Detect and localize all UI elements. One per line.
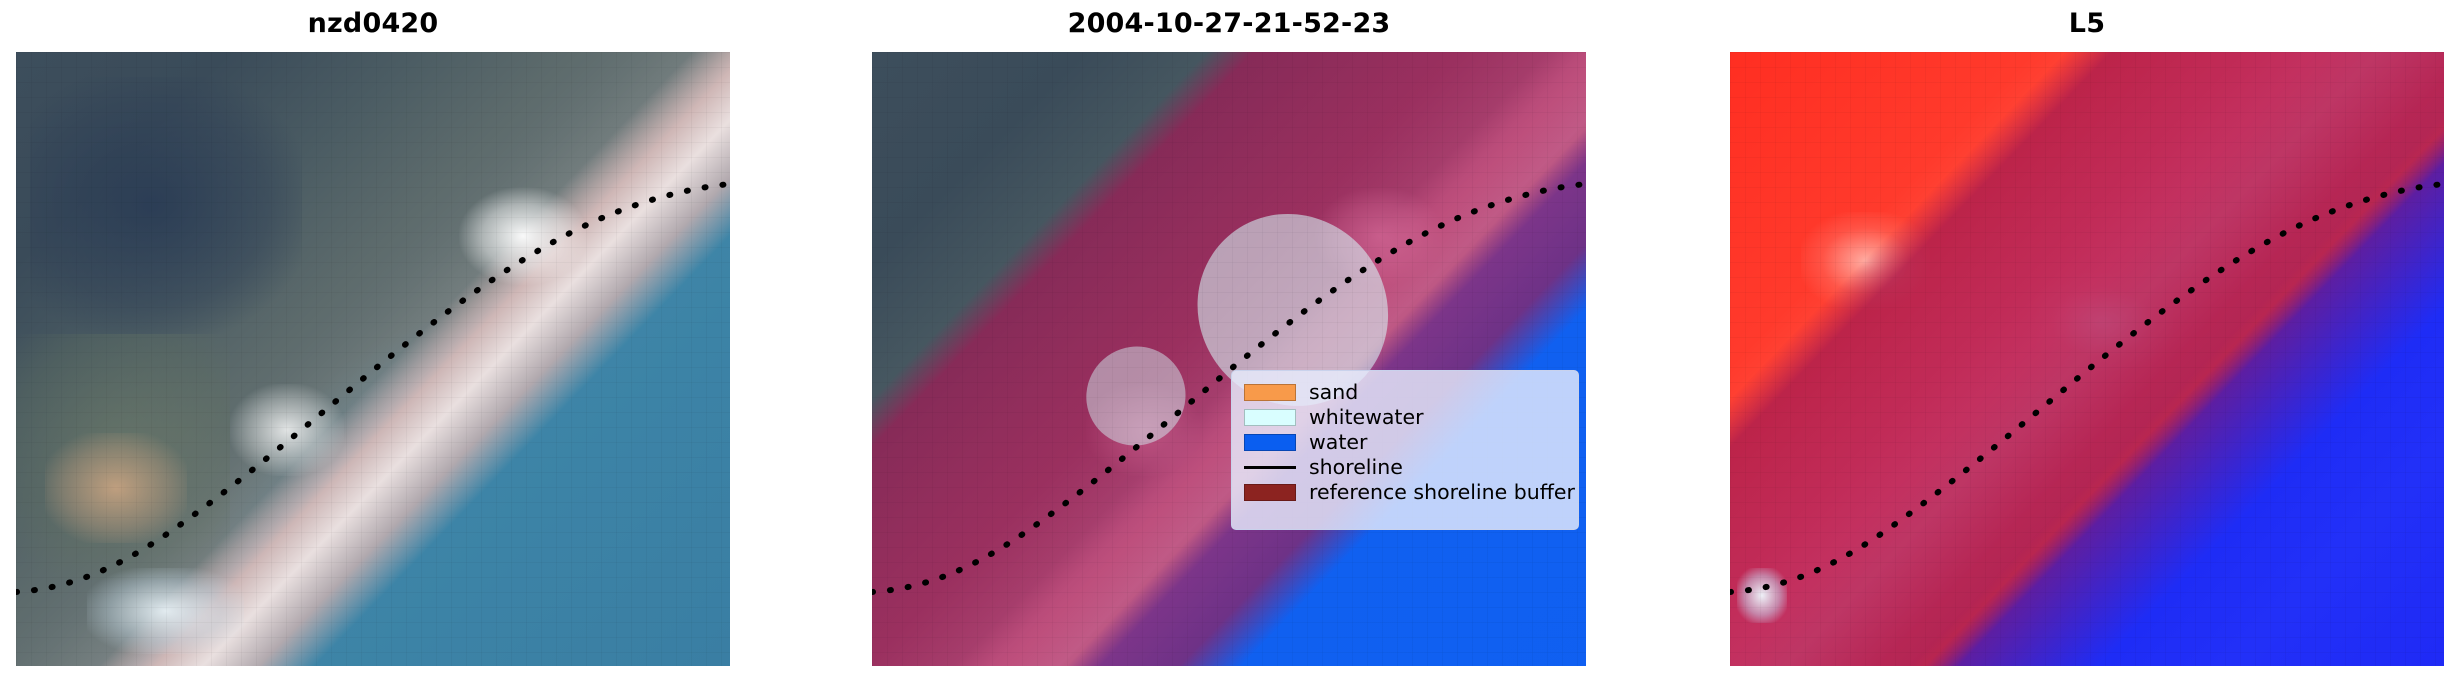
falsecolor-buffer-overlay (1730, 52, 2444, 666)
rgb-bright-sand-spot-2 (230, 384, 344, 476)
rgb-whitewater-foam (87, 568, 244, 654)
panel-classified[interactable] (872, 52, 1586, 666)
legend-item[interactable]: reference shoreline buffer (1244, 480, 1564, 505)
panel-falsecolor[interactable] (1730, 52, 2444, 666)
legend-label-whitewater: whitewater (1309, 407, 1424, 428)
panel-title-rgb: nzd0420 (16, 8, 730, 39)
legend-label-sand: sand (1309, 382, 1358, 403)
figure-canvas: nzd0420 2004-10-27-21-52-23 (0, 0, 2460, 683)
legend-swatch-reference-buffer (1244, 484, 1296, 501)
rgb-bright-sand-spot (459, 187, 588, 285)
panel-title-falsecolor: L5 (1730, 8, 2444, 39)
legend-item[interactable]: sand (1244, 380, 1564, 405)
legend-item[interactable]: shoreline (1244, 455, 1564, 480)
legend-label-water: water (1309, 432, 1367, 453)
legend-label-shoreline: shoreline (1309, 457, 1403, 478)
legend-box: sand whitewater water shoreline referenc… (1231, 370, 1579, 530)
panel-rgb[interactable] (16, 52, 730, 666)
legend-item[interactable]: whitewater (1244, 405, 1564, 430)
legend-swatch-sand (1244, 384, 1296, 401)
legend-swatch-shoreline (1244, 466, 1296, 469)
legend-label-reference-buffer: reference shoreline buffer (1309, 482, 1575, 503)
legend-item[interactable]: water (1244, 430, 1564, 455)
legend-swatch-water (1244, 434, 1296, 451)
panel-title-classified: 2004-10-27-21-52-23 (872, 8, 1586, 39)
legend-swatch-whitewater (1244, 409, 1296, 426)
falsecolor-foam-spot (1737, 568, 1787, 623)
